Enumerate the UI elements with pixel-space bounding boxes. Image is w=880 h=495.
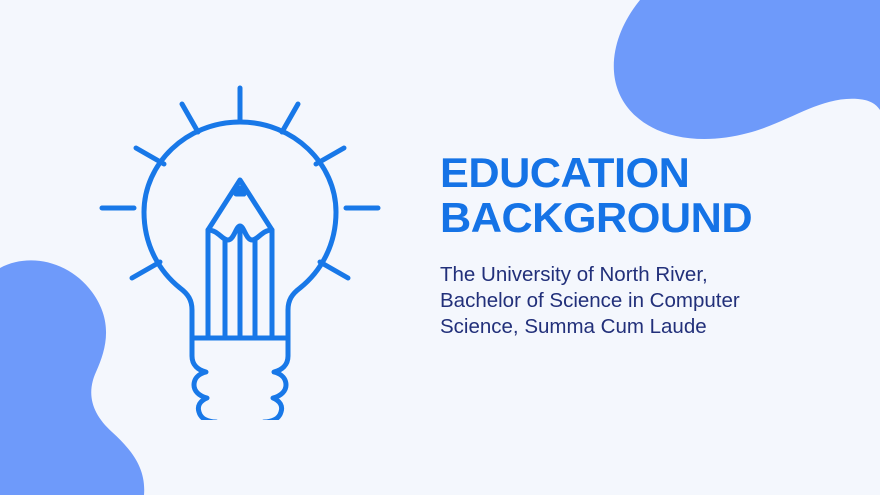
ray-bottom-right [320, 262, 348, 278]
ray-bottom-left [132, 262, 160, 278]
ray-top-right [282, 104, 298, 132]
pencil-lead-shape [236, 188, 244, 194]
page-subtitle: The University of North River, Bachelor … [440, 262, 830, 340]
slide-canvas: EDUCATION BACKGROUND The University of N… [0, 0, 880, 495]
lightbulb-illustration [80, 60, 400, 420]
blob-top-right-shape [614, 0, 880, 139]
text-block: EDUCATION BACKGROUND The University of N… [440, 150, 830, 340]
ray-top-left [182, 104, 198, 132]
pencil-icon [208, 180, 272, 338]
bulb-screw-base-shape [192, 338, 288, 420]
page-title: EDUCATION BACKGROUND [440, 150, 842, 240]
